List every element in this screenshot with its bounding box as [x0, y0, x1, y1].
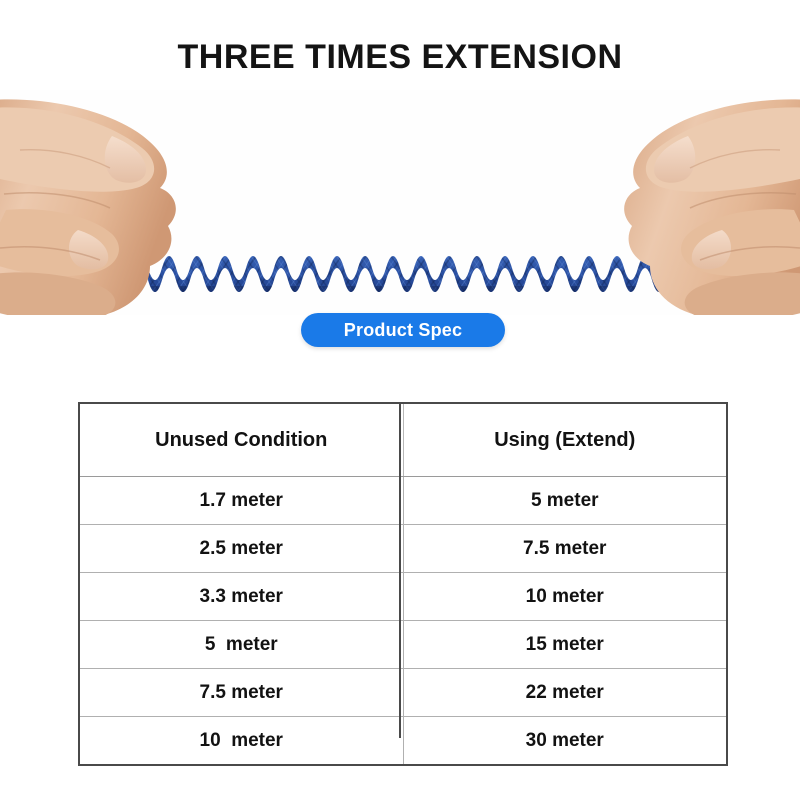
- product-spec-page: THREE TIMES EXTENSION: [0, 0, 800, 800]
- cell-unused-condition: 10 meter: [79, 717, 403, 766]
- cell-value: 1.7 meter: [200, 490, 283, 511]
- cell-using-extend: 15 meter: [403, 621, 727, 669]
- cell-unused-condition: 5 meter: [79, 621, 403, 669]
- cell-value: 15 meter: [526, 634, 604, 655]
- table-row: 5 meter15 meter: [79, 621, 727, 669]
- product-spec-badge[interactable]: Product Spec: [301, 313, 505, 347]
- cell-unused-condition: 7.5 meter: [79, 669, 403, 717]
- cell-using-extend: 7.5 meter: [403, 525, 727, 573]
- table-row: 3.3 meter10 meter: [79, 573, 727, 621]
- product-spec-badge-label: Product Spec: [344, 320, 462, 341]
- cell-value: 22 meter: [526, 682, 604, 703]
- column-header-using-extend: Using (Extend): [403, 403, 727, 477]
- table-row: 10 meter30 meter: [79, 717, 727, 766]
- cell-unused-condition: 2.5 meter: [79, 525, 403, 573]
- cell-value: 10 meter: [526, 586, 604, 607]
- cell-using-extend: 22 meter: [403, 669, 727, 717]
- table-header-row: Unused Condition Using (Extend): [79, 403, 727, 477]
- spec-table: Unused Condition Using (Extend) 1.7 mete…: [78, 402, 728, 766]
- table-column-divider: [399, 402, 401, 738]
- column-header-unused-condition: Unused Condition: [79, 403, 403, 477]
- hero-photo: [0, 90, 800, 315]
- page-title: THREE TIMES EXTENSION: [0, 38, 800, 77]
- cell-unused-condition: 3.3 meter: [79, 573, 403, 621]
- stretched-rope-illustration: [0, 90, 800, 315]
- cell-value: 7.5 meter: [200, 682, 283, 703]
- hand-right: [624, 99, 800, 315]
- cell-unused-condition: 1.7 meter: [79, 477, 403, 525]
- table-row: 7.5 meter22 meter: [79, 669, 727, 717]
- cell-using-extend: 5 meter: [403, 477, 727, 525]
- table-row: 2.5 meter7.5 meter: [79, 525, 727, 573]
- cell-using-extend: 30 meter: [403, 717, 727, 766]
- cell-value: 5 meter: [531, 490, 599, 511]
- spec-table-body: 1.7 meter5 meter2.5 meter7.5 meter3.3 me…: [79, 477, 727, 766]
- cell-value: 7.5 meter: [523, 538, 606, 559]
- cell-value: 30 meter: [526, 730, 604, 751]
- spec-table-head: Unused Condition Using (Extend): [79, 403, 727, 477]
- cell-value: 2.5 meter: [200, 538, 283, 559]
- cell-using-extend: 10 meter: [403, 573, 727, 621]
- cell-value: 10 meter: [200, 730, 283, 751]
- cell-value: 5 meter: [205, 634, 278, 655]
- cell-value: 3.3 meter: [200, 586, 283, 607]
- table-row: 1.7 meter5 meter: [79, 477, 727, 525]
